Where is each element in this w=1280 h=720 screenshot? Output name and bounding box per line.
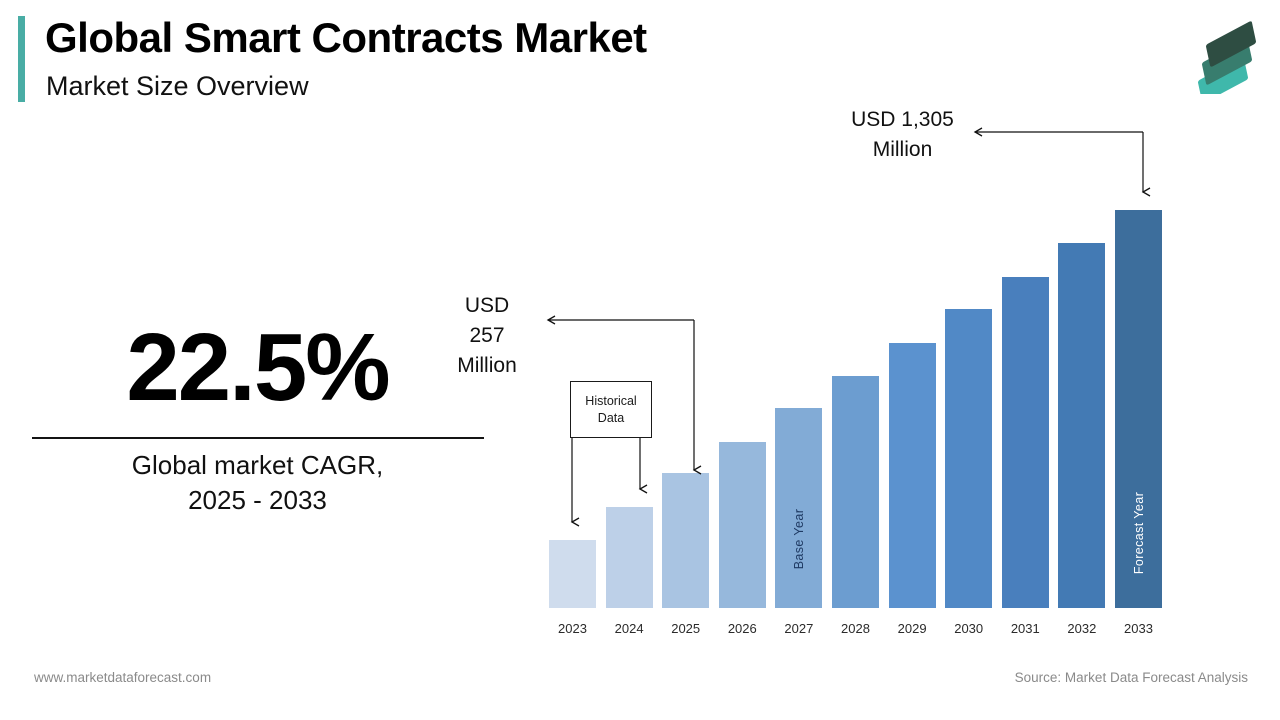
x-axis-label-2023: 2023: [545, 621, 601, 636]
historical-data-box: Historical Data: [570, 381, 652, 438]
stacked-diamonds-logo: [1183, 14, 1269, 94]
bar-2023: [549, 540, 596, 608]
bar-2024: [606, 507, 653, 608]
callout-end-line1: USD 1,305: [800, 105, 1005, 135]
historical-data-text: Historical Data: [585, 393, 636, 427]
x-axis-label-2028: 2028: [828, 621, 884, 636]
x-axis-label-2026: 2026: [714, 621, 770, 636]
inbar-label-2027: Base Year: [792, 509, 806, 570]
callout-start-line1: USD: [437, 291, 537, 321]
bar-2026: [719, 442, 766, 608]
title-accent-bar: [18, 16, 25, 102]
callout-start-line2: 257: [437, 321, 537, 351]
callout-start-value: USD 257 Million: [437, 291, 537, 380]
cagr-caption: Global market CAGR, 2025 - 2033: [30, 448, 485, 518]
historical-data-line1: Historical: [585, 393, 636, 410]
bar-2033: Forecast Year: [1115, 210, 1162, 608]
bar-2025: [662, 473, 709, 608]
callout-end-line2: Million: [800, 135, 1005, 165]
footer-website[interactable]: www.marketdataforecast.com: [34, 670, 211, 685]
footer-source: Source: Market Data Forecast Analysis: [1015, 670, 1248, 685]
x-axis-label-2033: 2033: [1111, 621, 1167, 636]
bar-2031: [1002, 277, 1049, 608]
x-axis-label-2029: 2029: [884, 621, 940, 636]
callout-start-line3: Million: [437, 351, 537, 381]
x-axis-label-2025: 2025: [658, 621, 714, 636]
bar-2029: [889, 343, 936, 608]
historical-data-line2: Data: [585, 410, 636, 427]
callout-end-value: USD 1,305 Million: [800, 105, 1005, 165]
cagr-divider: [32, 437, 484, 439]
bar-2030: [945, 309, 992, 608]
inbar-label-2033: Forecast Year: [1132, 492, 1146, 574]
bar-2032: [1058, 243, 1105, 608]
x-axis-label-2024: 2024: [601, 621, 657, 636]
bar-2027: Base Year: [775, 408, 822, 608]
cagr-caption-line2: 2025 - 2033: [30, 483, 485, 518]
x-axis-label-2027: 2027: [771, 621, 827, 636]
cagr-value: 22.5%: [30, 318, 485, 419]
x-axis-label-2031: 2031: [997, 621, 1053, 636]
infographic-root: Global Smart Contracts Market Market Siz…: [0, 0, 1280, 720]
x-axis-label-2032: 2032: [1054, 621, 1110, 636]
bar-2028: [832, 376, 879, 608]
x-axis-label-2030: 2030: [941, 621, 997, 636]
page-subtitle: Market Size Overview: [46, 71, 309, 102]
cagr-caption-line1: Global market CAGR,: [30, 448, 485, 483]
page-title: Global Smart Contracts Market: [45, 14, 647, 62]
